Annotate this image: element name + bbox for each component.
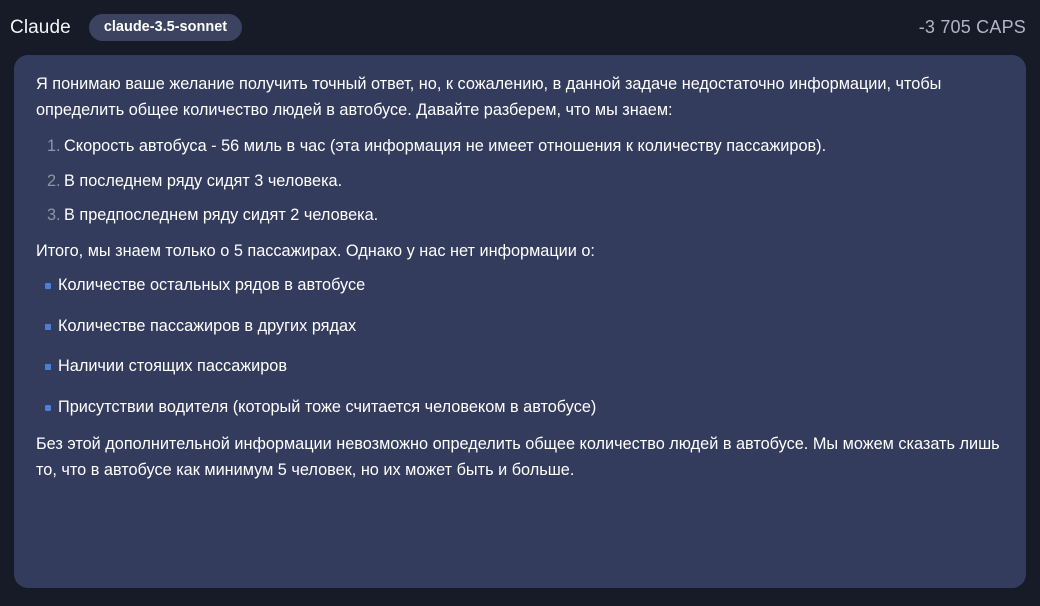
list-item: Наличии стоящих пассажиров xyxy=(36,354,1004,380)
chat-header: Claude claude-3.5-sonnet -3 705 CAPS xyxy=(0,0,1040,55)
bullet-dot-icon xyxy=(36,314,58,330)
list-item-label: В предпоследнем ряду сидят 2 человека. xyxy=(64,203,1004,229)
chat-screen: Claude claude-3.5-sonnet -3 705 CAPS Я п… xyxy=(0,0,1040,606)
assistant-name: Claude xyxy=(10,17,71,39)
bullet-dot-icon xyxy=(36,273,58,289)
message-closing-paragraph: Без этой дополнительной информации невоз… xyxy=(36,432,1004,483)
list-item: 2. В последнем ряду сидят 3 человека. xyxy=(36,169,1004,195)
model-badge[interactable]: claude-3.5-sonnet xyxy=(89,14,242,42)
bullet-dot-icon xyxy=(36,354,58,370)
list-item: Присутствии водителя (который тоже счита… xyxy=(36,395,1004,421)
assistant-message-card: Я понимаю ваше желание получить точный о… xyxy=(14,55,1026,588)
numbered-list: 1. Скорость автобуса - 56 миль в час (эт… xyxy=(36,134,1004,229)
list-item-label: Количестве остальных рядов в автобусе xyxy=(58,273,1004,299)
bullet-dot-icon xyxy=(36,395,58,411)
list-item-label: В последнем ряду сидят 3 человека. xyxy=(64,169,1004,195)
list-item: 1. Скорость автобуса - 56 миль в час (эт… xyxy=(36,134,1004,160)
list-item-label: Скорость автобуса - 56 миль в час (эта и… xyxy=(64,134,1004,160)
list-item-label: Количестве пассажиров в других рядах xyxy=(58,314,1004,340)
caps-counter: -3 705 CAPS xyxy=(919,17,1026,38)
list-marker: 3. xyxy=(36,203,64,229)
message-middle-paragraph: Итого, мы знаем только о 5 пассажирах. О… xyxy=(36,239,1004,265)
list-item: Количестве остальных рядов в автобусе xyxy=(36,273,1004,299)
list-item: 3. В предпоследнем ряду сидят 2 человека… xyxy=(36,203,1004,229)
list-item-label: Присутствии водителя (который тоже счита… xyxy=(58,395,1004,421)
bullet-list: Количестве остальных рядов в автобусе Ко… xyxy=(36,273,1004,420)
list-item-label: Наличии стоящих пассажиров xyxy=(58,354,1004,380)
message-intro-paragraph: Я понимаю ваше желание получить точный о… xyxy=(36,72,1004,123)
list-marker: 2. xyxy=(36,169,64,195)
list-marker: 1. xyxy=(36,134,64,160)
list-item: Количестве пассажиров в других рядах xyxy=(36,314,1004,340)
